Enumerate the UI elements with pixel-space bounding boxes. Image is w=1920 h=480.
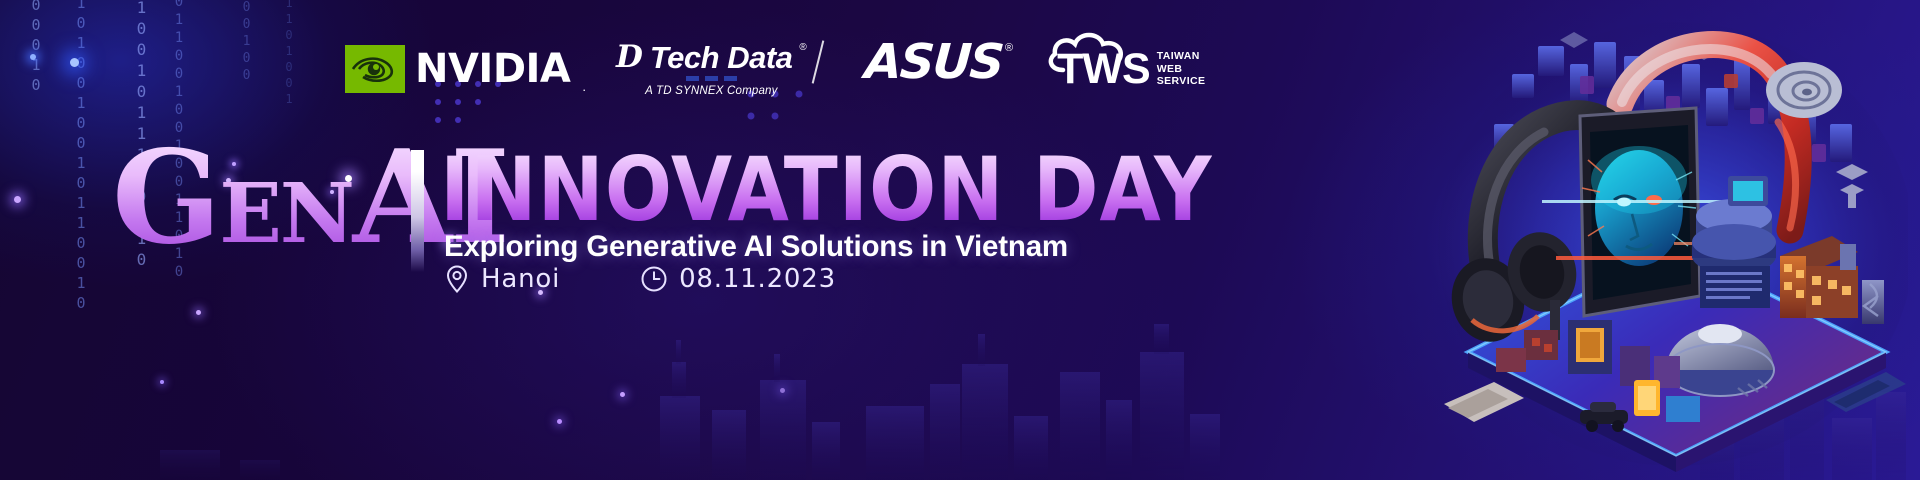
glow-dot xyxy=(620,392,625,397)
map-pin-icon xyxy=(444,264,470,294)
genai-g: G xyxy=(112,140,219,258)
tech-data-monogram: D xyxy=(616,42,643,73)
tws-sub-line-1: TAIWAN xyxy=(1157,50,1206,63)
meta-date-label: 08.11.2023 xyxy=(679,264,836,294)
logo-asus[interactable]: ASUS ® xyxy=(865,38,1013,100)
clock-icon xyxy=(640,265,668,293)
meta-location: Hanoi xyxy=(444,264,560,294)
glow-dot xyxy=(780,388,785,393)
nvidia-trademark: . xyxy=(582,79,586,94)
subtitle: Exploring Generative AI Solutions in Vie… xyxy=(444,230,1068,264)
genai-en: EN xyxy=(219,177,352,252)
asus-wordmark: ASUS xyxy=(863,38,1004,86)
glow-dot xyxy=(557,419,562,424)
ai-city-illustration xyxy=(1438,4,1908,476)
meta-date: 08.11.2023 xyxy=(640,264,836,294)
binary-column-6: 1101001 xyxy=(283,0,295,108)
tech-data-wordmark: Tech Data xyxy=(650,42,793,73)
logo-tech-data[interactable]: D Tech Data ® A TD SYNNEX Company xyxy=(616,38,807,100)
headline-divider-bar xyxy=(411,150,424,272)
tws-sublabel: TAIWAN WEB SERVICE xyxy=(1157,50,1206,88)
event-meta: Hanoi 08.11.2023 xyxy=(444,264,836,294)
logo-nvidia[interactable]: NVIDIA . xyxy=(345,38,586,100)
binary-column-5: 00100 xyxy=(240,0,253,85)
tech-data-tagline: A TD SYNNEX Company xyxy=(645,85,777,97)
binary-column-2: 1010010010110010 xyxy=(73,0,88,314)
glow-dot xyxy=(14,196,21,203)
tws-sub-line-3: SERVICE xyxy=(1157,75,1206,88)
tws-sub-line-2: WEB xyxy=(1157,63,1206,76)
page-title: INNOVATION DAY xyxy=(440,146,1212,234)
binary-column-1: 00010 xyxy=(28,0,43,96)
glow-dot xyxy=(30,54,36,60)
glow-dot xyxy=(160,380,164,384)
tech-data-trademark: ® xyxy=(799,42,806,53)
nvidia-eye-icon xyxy=(345,45,405,93)
event-banner: 00010 1010010010110010 1001011100010 011… xyxy=(0,0,1920,480)
tws-wordmark: TWS xyxy=(1057,48,1150,91)
glow-dot xyxy=(196,310,201,315)
partner-logo-row: NVIDIA . D Tech Data ® A TD SYNNEX Compa… xyxy=(345,38,1205,100)
meta-location-label: Hanoi xyxy=(481,264,560,294)
tech-data-blocks-decor xyxy=(686,76,737,81)
logo-tws[interactable]: TWS TAIWAN WEB SERVICE xyxy=(1051,38,1205,100)
tech-data-main: D Tech Data ® xyxy=(616,42,807,73)
glow-dot xyxy=(70,58,79,67)
asus-trademark: ® xyxy=(1005,42,1013,54)
tech-data-slash-decor xyxy=(811,40,824,83)
nvidia-wordmark: NVIDIA xyxy=(415,49,570,89)
